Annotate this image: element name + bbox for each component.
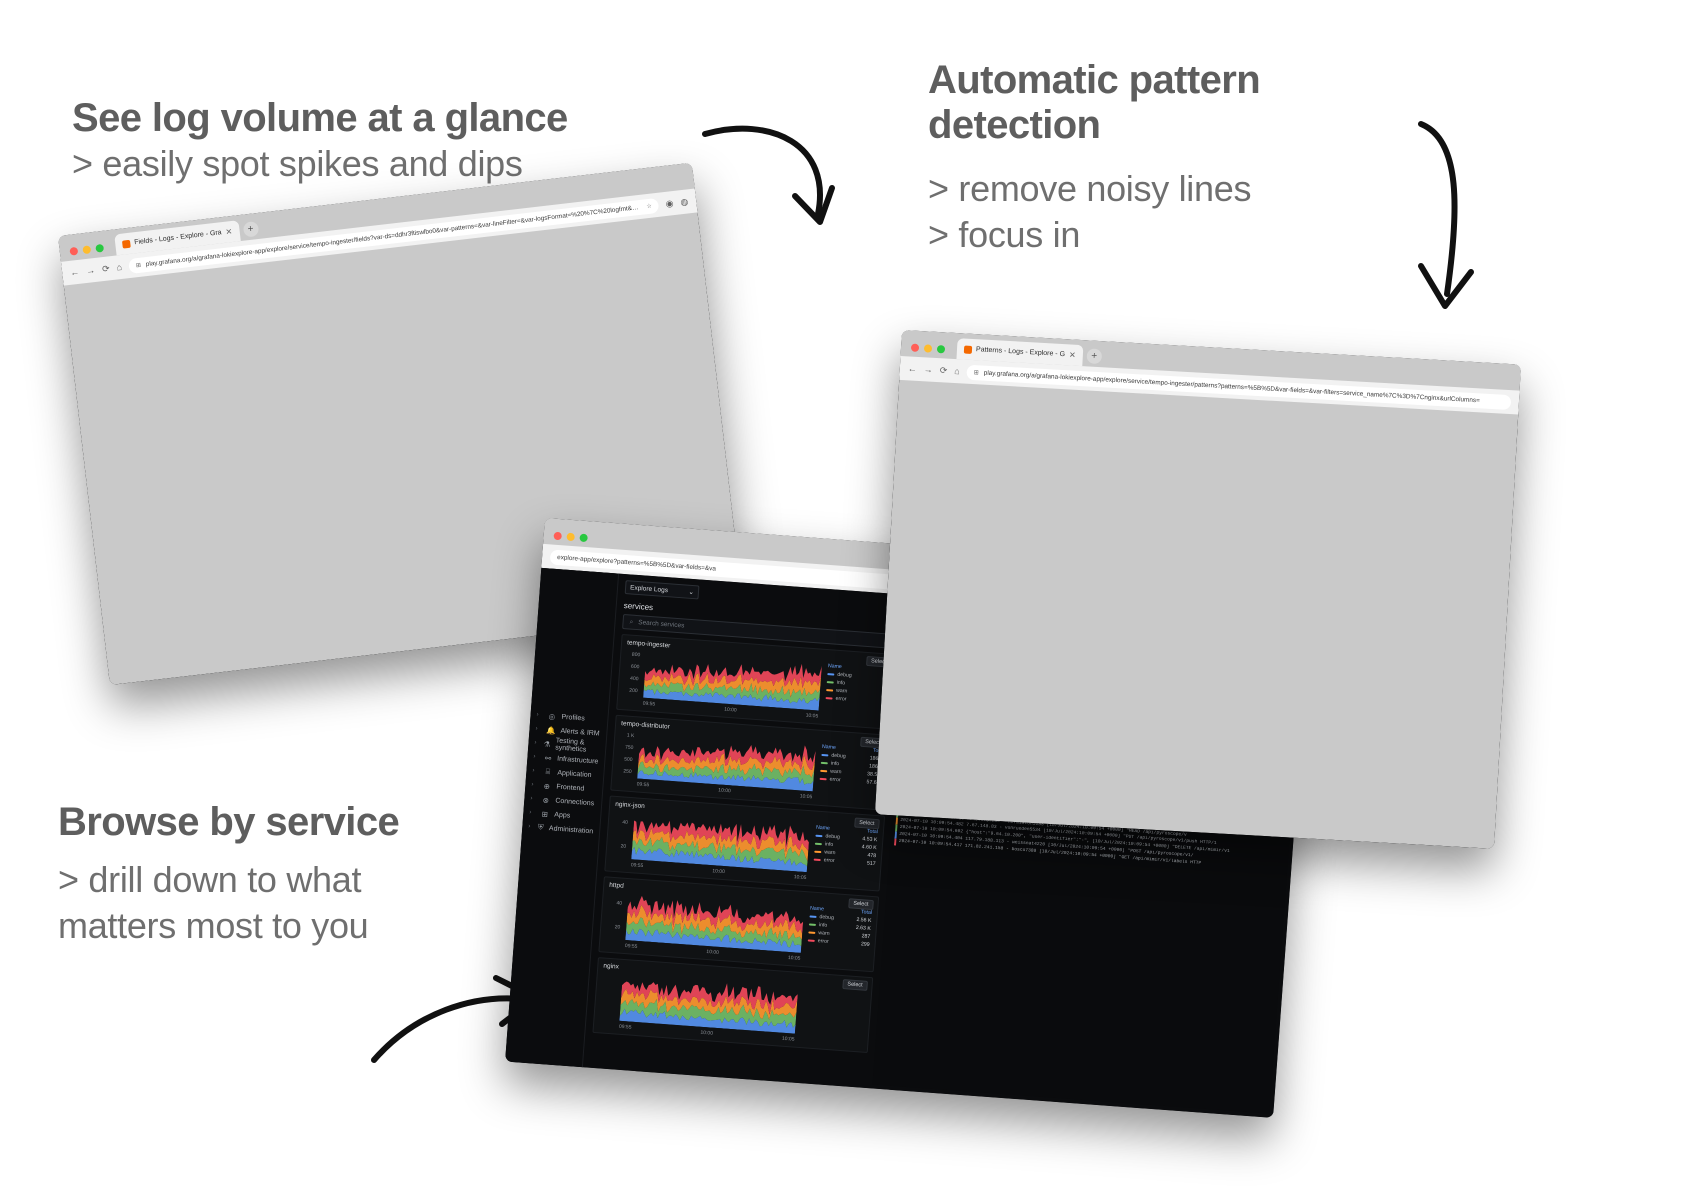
legend-label: error (818, 938, 859, 947)
sidebar-item-label: Alerts & IRM (560, 727, 600, 737)
service-panel[interactable]: tempo-distributor 1 K750500250 09:5510:0… (610, 715, 891, 811)
chevron-right-icon[interactable]: › (534, 740, 539, 746)
y-tick: 40 (616, 900, 622, 906)
y-tick: 750 (625, 744, 634, 751)
breadcrumb-item-current: Fields (252, 672, 273, 683)
new-tab-button[interactable]: + (242, 221, 259, 238)
service-panel-list: tempo-ingester 800600400200 09:5510:0010… (592, 634, 897, 1053)
legend-swatch (814, 859, 821, 862)
legend-swatch (827, 673, 834, 676)
maximize-icon[interactable] (95, 244, 104, 253)
legend-swatch (820, 778, 827, 781)
y-tick: 40 (622, 819, 628, 825)
search-icon: ⌕ (629, 618, 633, 626)
select-button[interactable]: Select (848, 898, 874, 910)
services-search-placeholder: Search services (638, 619, 685, 629)
tab-title: Patterns - Logs - Explore - G (976, 346, 1065, 358)
browser-window-patterns[interactable]: Patterns - Logs - Explore - G ✕ + ← → ⟳ … (875, 330, 1521, 849)
panel-chart[interactable]: 09:5510:0010:05 (631, 811, 811, 881)
grafana-favicon-icon (964, 345, 972, 353)
panel-legend: Name Total debug 2.56 K info 2.63 K warn… (806, 905, 872, 966)
back-icon[interactable]: ← (908, 363, 918, 373)
sidebar-item-label: Apps (554, 811, 570, 819)
minimize-icon[interactable] (924, 344, 932, 352)
legend-label: error (835, 696, 884, 706)
chevron-right-icon[interactable]: › (535, 726, 541, 732)
annotation-line: > easily spot spikes and dips (72, 141, 568, 187)
y-axis: 1 K750500250 (617, 729, 634, 778)
maximize-icon[interactable] (579, 534, 588, 543)
tab-title: Fields - Logs - Explore - Gra (134, 229, 222, 246)
legend-swatch (825, 697, 832, 700)
server-icon: ⚯ (544, 753, 553, 763)
annotation-line: matters most to you (58, 903, 399, 949)
y-tick: 20 (620, 843, 626, 849)
legend-total: 4.53 K (862, 836, 877, 843)
select-button[interactable]: Select (842, 979, 868, 991)
window-controls[interactable] (909, 343, 954, 358)
y-axis: 4020 (611, 810, 628, 859)
service-panel[interactable]: nginx 09:5510:0010:05 Select (592, 957, 873, 1053)
legend-swatch (815, 835, 822, 838)
bell-icon: 🔔 (546, 725, 556, 735)
profile-icon[interactable]: ◍ (680, 196, 689, 208)
y-tick: 1 K (627, 733, 635, 740)
x-tick: 10:00 (706, 949, 719, 956)
annotation-browse-by-service: Browse by service > drill down to what m… (58, 800, 399, 949)
marketing-collage: See log volume at a glance > easily spot… (0, 0, 1684, 1190)
chevron-down-icon: ⌄ (688, 588, 694, 596)
sidebar-item-label: Administration (549, 825, 594, 835)
sidebar-item-label: Connections (555, 797, 594, 807)
panel-chart[interactable]: 09:5510:0010:05 (642, 650, 822, 720)
search-icon: ⌕ (287, 671, 292, 679)
y-tick: 500 (624, 756, 633, 763)
arrow-to-volume-window (700, 122, 850, 282)
panel-chart[interactable]: 09:5510:0010:05 (619, 973, 799, 1043)
legend-swatch (815, 843, 822, 846)
x-tick: 09:55 (642, 701, 655, 708)
forward-icon[interactable]: → (924, 364, 934, 374)
chevron-right-icon[interactable]: › (529, 810, 535, 816)
chevron-right-icon[interactable]: › (536, 712, 542, 718)
panel-legend: Name Total debug 4.53 K info 4.60 K warn… (812, 825, 878, 886)
legend-header-name: Name (816, 825, 830, 832)
site-info-icon[interactable]: ⊞ (135, 261, 141, 269)
datasource-value: Explore Logs (630, 584, 668, 594)
x-tick: 09:55 (631, 862, 644, 869)
legend-label: error (829, 777, 863, 785)
y-tick: 800 (632, 652, 641, 659)
legend-label: info (831, 761, 867, 770)
legend-swatch (826, 689, 833, 692)
legend-swatch (814, 851, 821, 854)
legend-header-total: Total (861, 909, 872, 916)
home-icon[interactable]: ⌂ (116, 262, 123, 273)
panel-chart[interactable]: 09:5510:0010:05 (625, 892, 805, 962)
new-tab-button[interactable]: + (1086, 348, 1102, 364)
address-bar-url: explore-app/explore?patterns=%5B%5D&var-… (557, 554, 716, 573)
minimize-icon[interactable] (82, 245, 91, 254)
legend-total: 2.63 K (856, 925, 871, 932)
annotation-line: > remove noisy lines (928, 166, 1358, 212)
chevron-right-icon[interactable]: › (533, 754, 539, 760)
legend-total: 478 (867, 853, 876, 860)
annotation-heading: See log volume at a glance (72, 96, 568, 141)
legend-label: error (823, 857, 864, 866)
grid-icon: ⊞ (540, 809, 550, 819)
x-tick: 09:55 (637, 781, 650, 788)
y-tick: 600 (631, 664, 640, 671)
chevron-right-icon[interactable]: › (532, 768, 538, 774)
breadcrumb-separator: › (216, 678, 220, 685)
legend-total: 287 (861, 933, 870, 940)
sidebar-item-label: Infrastructure (557, 755, 599, 765)
services-column: Explore Logs ⌄ services ⌕ Search service… (583, 574, 908, 1089)
bookmark-star-icon[interactable]: ☆ (646, 202, 652, 210)
close-icon[interactable] (553, 532, 562, 541)
legend-label: info (819, 922, 853, 930)
x-tick: 10:05 (805, 713, 818, 720)
service-panel[interactable]: httpd 4020 09:5510:0010:05 Name Total de… (598, 876, 879, 972)
annotation-log-volume: See log volume at a glance > easily spot… (72, 96, 568, 187)
legend-total: 299 (861, 941, 870, 948)
legend-swatch (827, 681, 834, 684)
close-tab-icon[interactable]: ✕ (1069, 350, 1076, 359)
extensions-icon[interactable]: ◉ (665, 198, 674, 210)
annotation-heading: Browse by service (58, 800, 399, 845)
legend-swatch (808, 931, 815, 934)
x-tick: 10:05 (782, 1036, 795, 1043)
y-tick: 20 (614, 924, 620, 930)
browser-chrome: Patterns - Logs - Explore - G ✕ + ← → ⟳ … (875, 330, 1521, 849)
legend-header-total: Total (867, 828, 878, 835)
legend-swatch (808, 939, 815, 942)
x-tick: 10:05 (788, 955, 801, 962)
y-axis (599, 971, 616, 1020)
x-tick: 10:00 (724, 707, 737, 714)
search-shortcut: ⌘+k (512, 643, 532, 653)
breadcrumb-separator: › (178, 683, 182, 685)
maximize-icon[interactable] (937, 345, 945, 353)
home-icon[interactable]: ⌂ (954, 366, 960, 376)
legend-total: 2.56 K (856, 917, 871, 924)
select-button[interactable]: Select (854, 817, 880, 829)
minimize-icon[interactable] (566, 533, 575, 542)
back-icon[interactable]: ← (70, 267, 80, 278)
apps-icon: ⌸ (543, 767, 553, 778)
legend-swatch (821, 762, 828, 765)
legend-label: info (825, 841, 859, 849)
x-tick: 10:00 (700, 1030, 713, 1037)
shield-icon: ⛨ (537, 822, 544, 832)
sidebar-item-label: Application (557, 769, 592, 778)
site-info-icon[interactable]: ⊞ (974, 369, 979, 376)
x-tick: 09:55 (619, 1024, 632, 1031)
legend-total: 4.60 K (862, 844, 877, 851)
x-tick: 10:00 (712, 868, 725, 875)
chevron-right-icon[interactable]: › (528, 824, 533, 830)
reload-icon[interactable]: ⟳ (101, 263, 110, 275)
legend-label: debug (819, 914, 853, 922)
y-tick: 400 (630, 676, 639, 683)
breadcrumb-item[interactable]: Home (153, 684, 174, 685)
legend-label: warn (830, 769, 864, 777)
legend-header-name: Name (822, 744, 836, 751)
plug-icon: ⊗ (541, 795, 551, 805)
datasource-select[interactable]: Explore Logs ⌄ (625, 580, 700, 599)
annotation-line: > drill down to what (58, 857, 399, 903)
service-panel[interactable]: nginx-json 4020 09:5510:0010:05 Name Tot… (604, 795, 885, 891)
search-placeholder: Search or jump to... (294, 664, 351, 677)
legend-header-name: Name (828, 663, 842, 670)
annotation-pattern-detection: Automatic pattern detection > remove noi… (928, 58, 1358, 258)
legend-header-name: Name (810, 905, 824, 912)
grafana-favicon-icon (122, 239, 131, 248)
legend-swatch (809, 915, 816, 918)
breadcrumb-separator: › (245, 675, 249, 684)
panel-legend: Name Total debug 186 K info 186 K warn 3… (818, 744, 884, 805)
legend-label: debug (831, 753, 867, 762)
legend-label: debug (825, 833, 859, 841)
reload-icon[interactable]: ⟳ (940, 365, 948, 376)
annotation-heading: Automatic pattern detection (928, 58, 1358, 148)
x-tick: 10:00 (718, 787, 731, 794)
y-axis: 4020 (605, 891, 622, 940)
y-axis: 800600400200 (623, 648, 640, 697)
y-tick: 250 (623, 768, 632, 775)
flask-icon: ⚗ (543, 739, 550, 748)
arrow-to-patterns-window (1395, 118, 1505, 333)
annotation-line: > focus in (928, 212, 1358, 258)
x-tick: 09:55 (625, 943, 638, 950)
legend-total: 517 (867, 861, 876, 868)
legend-swatch (821, 754, 828, 757)
close-tab-icon[interactable]: ✕ (225, 227, 233, 237)
forward-icon[interactable]: → (86, 265, 96, 276)
panel-legend (800, 986, 866, 1047)
sidebar-item-label: Profiles (561, 713, 585, 722)
close-icon[interactable] (69, 247, 78, 256)
chevron-right-icon[interactable]: › (531, 782, 537, 788)
service-panel[interactable]: tempo-ingester 800600400200 09:5510:0010… (616, 634, 897, 730)
x-tick: 10:05 (800, 793, 813, 800)
legend-swatch (809, 923, 816, 926)
close-icon[interactable] (911, 344, 919, 352)
chevron-right-icon[interactable]: › (530, 796, 536, 802)
panel-chart[interactable]: 09:5510:0010:05 (637, 731, 817, 801)
legend-swatch (820, 770, 827, 773)
globe-icon: ⊕ (542, 781, 552, 791)
breadcrumb-item[interactable]: Explore (186, 679, 212, 685)
log-level-bar (894, 839, 896, 846)
y-tick: 200 (629, 688, 638, 695)
profile-icon: ◎ (547, 711, 557, 721)
breadcrumb-item[interactable]: Logs (223, 676, 240, 685)
sidebar-item-label: Frontend (556, 783, 584, 792)
x-tick: 10:05 (794, 874, 807, 881)
